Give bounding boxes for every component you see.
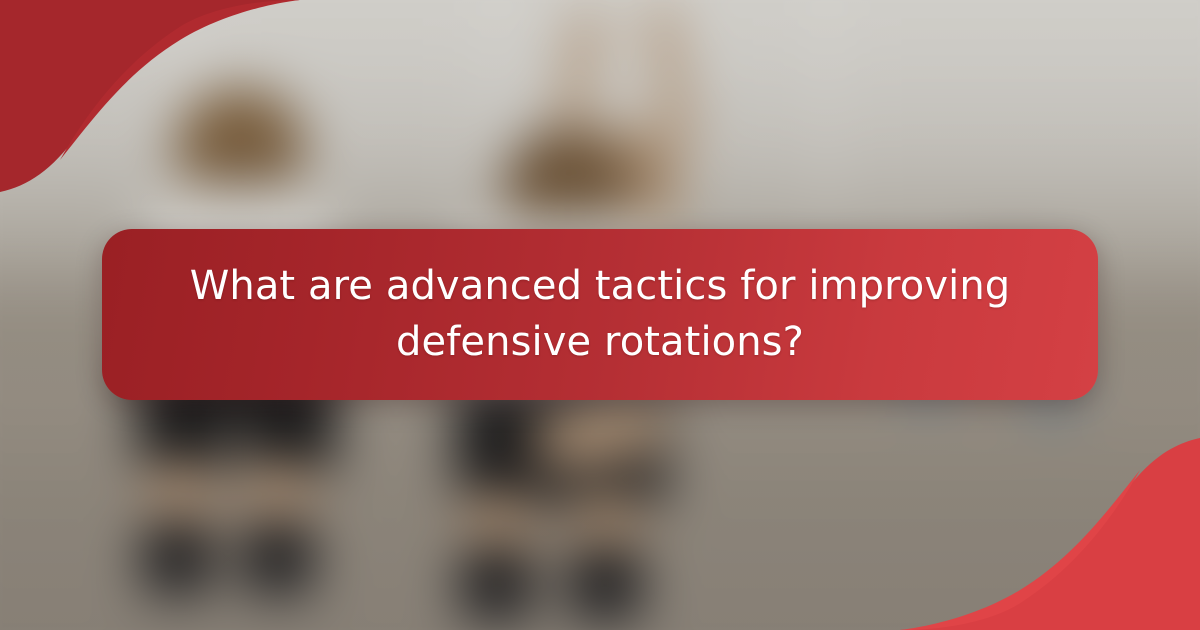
player-knee-pad [568,544,642,622]
player-knee-pad [242,518,314,596]
headline-banner: What are advanced tactics for improving … [102,229,1098,400]
wall-seam [810,0,844,220]
player-knee-pad [142,518,214,596]
player-knee-pad [460,544,534,622]
headline-text: What are advanced tactics for improving … [150,259,1050,369]
player-shorts-gap [228,418,244,482]
social-card: What are advanced tactics for improving … [0,0,1200,630]
